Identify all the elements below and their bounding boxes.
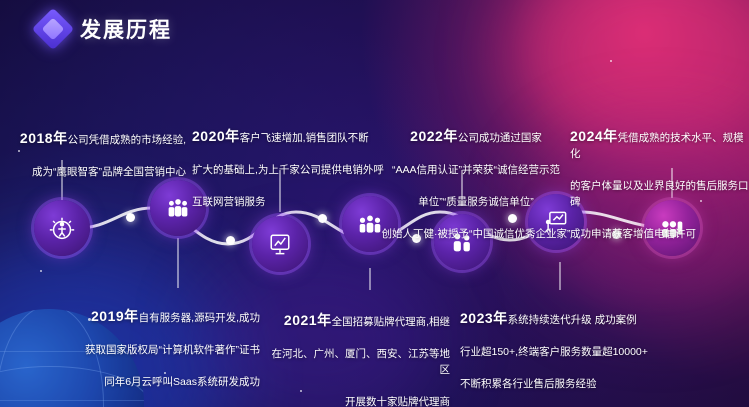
- timeline-text-2021-line3: 开展数十家贴牌代理商: [345, 396, 450, 407]
- timeline-text-2023-line2: 行业超150+,终端客户服务数量超10000+: [460, 346, 648, 358]
- timeline-year-2024: 2024年: [570, 128, 618, 144]
- timeline-node-2020[interactable]: [252, 216, 308, 272]
- page-title: 发展历程: [80, 14, 172, 44]
- timeline-label-2018: 2018年公司凭借成熟的市场经验, 成为“鹰眼智客”品牌全国营销中心: [0, 114, 186, 180]
- timeline-label-2024: 2024年凭借成熟的技术水平、规模化 的客户体量以及业界良好的售后服务口碑 成功…: [570, 112, 749, 242]
- timeline-connector-dot: [318, 214, 327, 223]
- timeline-year-2022: 2022年: [410, 128, 458, 144]
- timeline-year-2020: 2020年: [192, 128, 240, 144]
- timeline-year-2018: 2018年: [20, 130, 68, 146]
- timeline-text-2020-line3: 互联网营销服务: [192, 196, 266, 208]
- timeline-text-2021-line2: 在河北、广州、厦门、西安、江苏等地区: [272, 348, 451, 376]
- timeline-text-2022-line3: 单位”“质量服务诚信单位”: [418, 196, 534, 208]
- timeline-label-2020: 2020年客户飞速增加,销售团队不断 扩大的基础上,为上千家公司提供电销外呼 互…: [192, 112, 404, 210]
- timeline-label-2023: 2023年系统持续迭代升级 成功案例 行业超150+,终端客户服务数量超1000…: [460, 294, 690, 392]
- people-group-icon: [163, 193, 193, 223]
- timeline-text-2018-line2: 成为“鹰眼智客”品牌全国营销中心: [32, 166, 186, 178]
- timeline-text-2022-line2: “AAA信用认证”并荣获“诚信经营示范: [392, 164, 560, 176]
- timeline-text-2020-line1: 客户飞速增加,销售团队不断: [240, 132, 369, 144]
- star-decoration: [40, 270, 42, 272]
- timeline-year-2019: 2019年: [91, 308, 139, 324]
- timeline-text-2024-line2: 的客户体量以及业界良好的售后服务口碑: [570, 180, 749, 208]
- timeline-text-2019-line3: 同年6月云呼叫Saas系统研发成功: [104, 376, 260, 388]
- gear-person-icon: [47, 213, 77, 243]
- timeline-text-2023-line3: 不断积累各行业售后服务经验: [460, 378, 597, 390]
- timeline-text-2020-line2: 扩大的基础上,为上千家公司提供电销外呼: [192, 164, 384, 176]
- slide-canvas: 发展历程: [0, 0, 749, 407]
- timeline-label-2019: 2019年自有服务器,源码开发,成功 获取国家版权局“计算机软件著作”证书 同年…: [60, 292, 260, 390]
- timeline-label-2022: 2022年公司成功通过国家 “AAA信用认证”并荣获“诚信经营示范 单位”“质量…: [378, 112, 574, 242]
- timeline-text-2021-line1: 全国招募贴牌代理商,相继: [332, 316, 450, 328]
- timeline-text-2022-line1: 公司成功通过国家: [458, 132, 542, 144]
- star-decoration: [610, 60, 612, 62]
- diamond-logo-icon: [38, 14, 68, 44]
- timeline-year-2023: 2023年: [460, 310, 508, 326]
- timeline-connector-dot: [226, 236, 235, 245]
- timeline-year-2021: 2021年: [284, 312, 332, 328]
- timeline-label-2021: 2021年全国招募贴牌代理商,相继 在河北、广州、厦门、西安、江苏等地区 开展数…: [266, 296, 450, 407]
- chart-board-icon: [266, 230, 294, 258]
- slide-header: 发展历程: [38, 14, 172, 44]
- timeline-text-2018-line1: 公司凭借成熟的市场经验,: [68, 134, 186, 146]
- timeline-text-2019-line1: 自有服务器,源码开发,成功: [139, 312, 260, 324]
- timeline-text-2019-line2: 获取国家版权局“计算机软件著作”证书: [85, 344, 260, 356]
- timeline-node-2018[interactable]: [34, 200, 90, 256]
- timeline-text-2024-line3: 成功申请获客增值电信许可: [570, 228, 696, 240]
- timeline-connector-dot: [126, 213, 135, 222]
- timeline-text-2022-line4: 创始人丁健·被授予“中国诚信优秀企业家”: [382, 228, 571, 240]
- timeline-text-2023-line1: 系统持续迭代升级 成功案例: [508, 314, 637, 326]
